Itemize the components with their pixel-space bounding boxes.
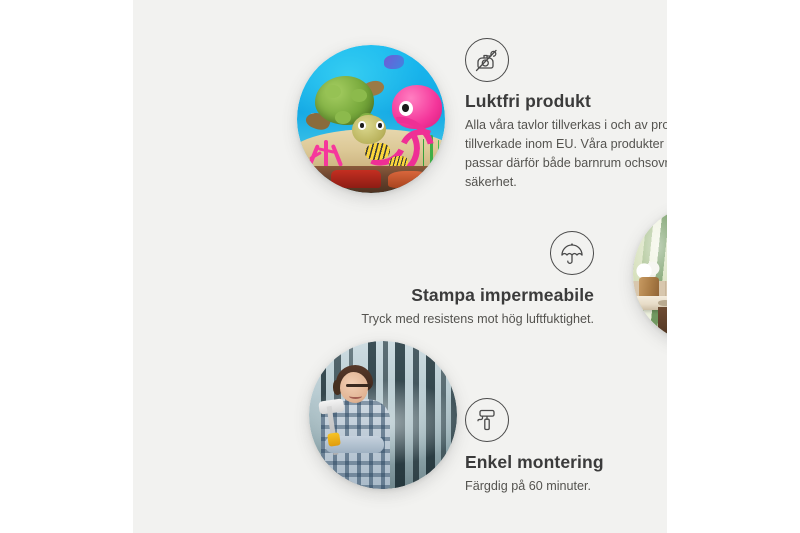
person-smile [349,393,362,399]
purple-fish [384,55,403,68]
soap-dish [658,300,667,306]
person-eyes [346,384,362,387]
feature-easy-mount: Enkel montering Färgdig på 60 minuter. [465,398,667,496]
product-image-bathroom[interactable] [633,205,667,343]
paint-roller-icon [465,398,509,442]
feature-title: Enkel montering [465,452,667,473]
ocean-artwork [297,45,445,193]
feature-body: Alla våra tavlor tillverkas i och av pro… [465,116,667,193]
product-image-ocean[interactable] [297,45,445,193]
paint-roller-grip [327,432,341,447]
feature-odourless: Luktfri produkt Alla våra tavlor tillver… [465,38,667,193]
feature-body: Tryck med resistens mot hög luftfuktighe… [293,310,594,329]
forest-artwork [309,341,457,489]
coral [304,128,348,169]
product-image-forest[interactable] [309,341,457,489]
umbrella-icon [550,231,594,275]
infographic-root: Luktfri produkt Alla våra tavlor tillver… [0,0,800,533]
feature-title: Stampa impermeabile [293,285,594,306]
feature-title: Luktfri produkt [465,91,667,112]
content-panel: Luktfri produkt Alla våra tavlor tillver… [133,0,667,533]
wood-vanity [658,307,667,343]
bathroom-artwork [633,205,667,343]
feature-waterproof: Stampa impermeabile Tryck med resistens … [293,231,594,329]
feature-body: Färgdig på 60 minuter. [465,477,667,496]
ocean-foreground [297,166,445,193]
no-odour-spray-bottle-icon [465,38,509,82]
